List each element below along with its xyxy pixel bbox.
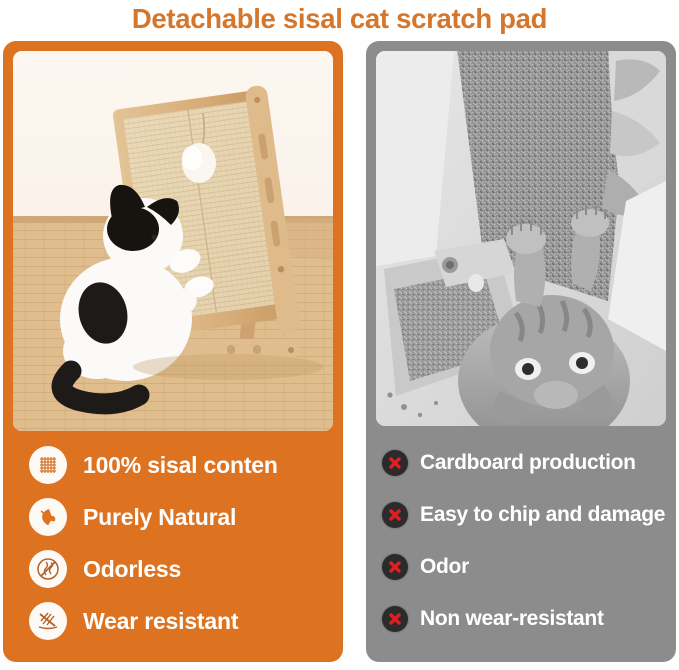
feature-list-drawbacks: Cardboard production Easy to chip and da… [366,437,676,645]
feature-label: Cardboard production [420,451,636,475]
sisal-weave-icon [29,446,67,484]
feature-row: Easy to chip and damage [366,489,676,541]
product-comparison-infographic: Detachable sisal cat scratch pad [0,0,679,670]
feature-label: Odor [420,555,469,579]
panel-cardboard-product: Cardboard production Easy to chip and da… [366,41,676,662]
x-mark-icon [382,606,408,632]
feature-label: Purely Natural [83,504,236,531]
feature-row: Wear resistant [3,595,343,647]
feature-label: Easy to chip and damage [420,503,665,527]
feature-row: Odor [366,541,676,593]
feature-row: Cardboard production [366,437,676,489]
sisal-scratcher-illustration [13,51,333,431]
x-mark-icon [382,450,408,476]
no-odor-icon [29,550,67,588]
feature-label: Wear resistant [83,608,238,635]
feature-row: Purely Natural [3,491,343,543]
cardboard-scratcher-illustration [376,51,666,426]
comparison-panels: 100% sisal conten Purely Natural [0,41,679,666]
page-title: Detachable sisal cat scratch pad [0,2,679,36]
leaf-icon [29,498,67,536]
wear-resistant-icon [29,602,67,640]
x-mark-icon [382,554,408,580]
feature-row: Odorless [3,543,343,595]
panel-sisal-product: 100% sisal conten Purely Natural [3,41,343,662]
photo-cardboard-scratcher [376,51,666,426]
feature-label: Non wear-resistant [420,607,604,631]
feature-label: Odorless [83,556,181,583]
feature-row: 100% sisal conten [3,439,343,491]
x-mark-icon [382,502,408,528]
feature-label: 100% sisal conten [83,452,278,479]
photo-sisal-scratcher [13,51,333,431]
feature-row: Non wear-resistant [366,593,676,645]
feature-list-benefits: 100% sisal conten Purely Natural [3,439,343,647]
